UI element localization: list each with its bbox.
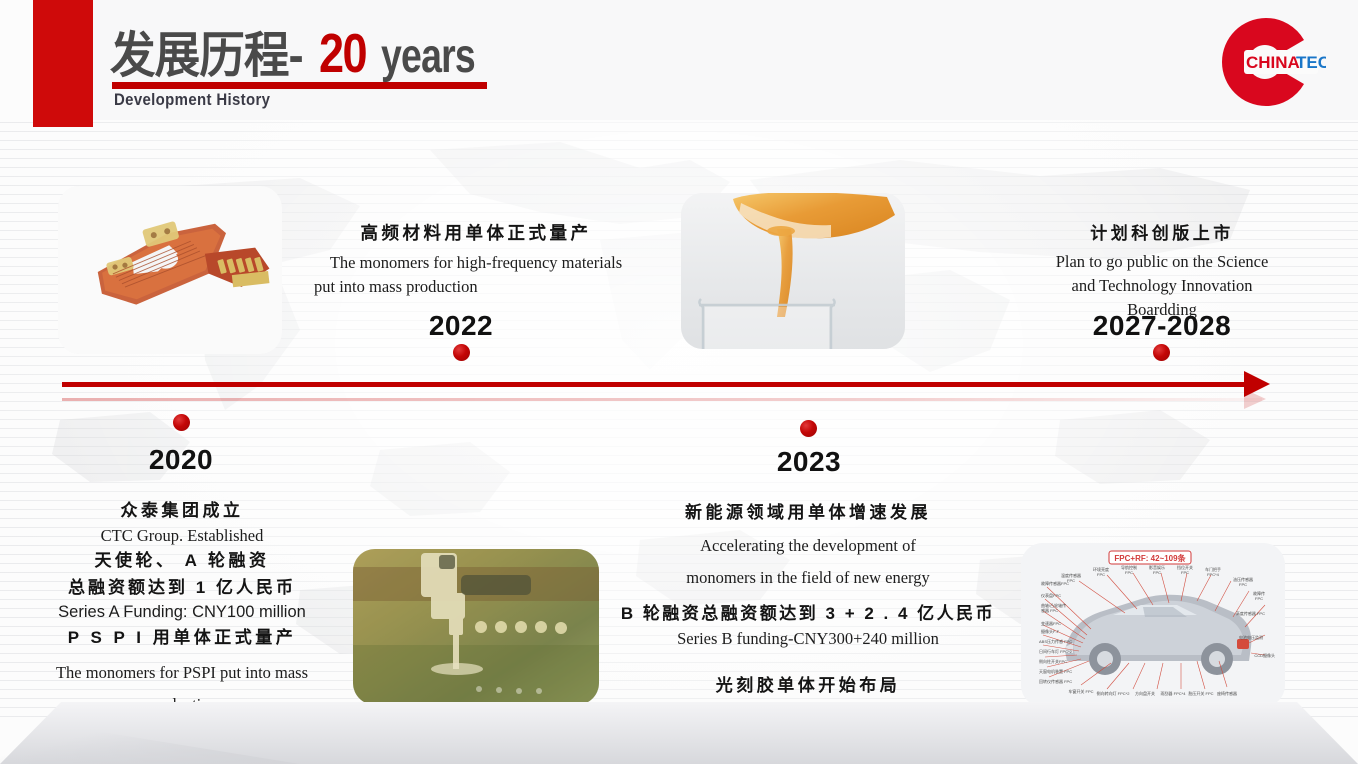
logo-icon: CHINA TECH [1206, 12, 1326, 112]
photo-car-fpc-diagram: FPC+RF: 42~109条 温度传感器FPC 环境亮度FPC 导航控制FPC… [1021, 543, 1285, 707]
svg-text:FPC: FPC [1153, 570, 1161, 575]
svg-text:天窗电机装置 FPC: 天窗电机装置 FPC [1039, 668, 1072, 674]
milestone-2020-cn-3: 总融资额达到 1 亿人民币 [26, 575, 338, 601]
milestone-2020-text: 众泰集团成立 CTC Group. Established 天使轮、 A 轮融资… [26, 498, 338, 720]
svg-text:日间行车灯 FPC*2: 日间行车灯 FPC*2 [1039, 648, 1073, 654]
milestone-2022-en-1: The monomers for high-frequency material… [306, 251, 646, 275]
milestone-2023-en-4: Series B funding-CNY300+240 million [608, 627, 1008, 651]
svg-text:摄像头F-F: 摄像头F-F [1041, 628, 1060, 634]
milestone-2027-text: 计划科创版上市 Plan to go public on the Science… [1028, 221, 1296, 322]
svg-text:座椅传感器: 座椅传感器 [1217, 690, 1237, 696]
page-title: 发展历程- 20 years [110, 16, 501, 87]
car-diagram-badge: FPC+RF: 42~109条 [1114, 553, 1186, 563]
svg-text:仪表盘FPC: 仪表盘FPC [1041, 592, 1061, 598]
milestone-2023-en-2: monomers in the field of new energy [608, 562, 1008, 593]
svg-text:高度传感器 FPC: 高度传感器 FPC [1236, 610, 1265, 616]
svg-text:变速器FPC: 变速器FPC [1041, 620, 1061, 626]
page-title-number: 20 [319, 21, 366, 85]
milestone-2027-year: 2027-2028 [1062, 310, 1262, 342]
milestone-2023-en-1: Accelerating the development of [608, 530, 1008, 561]
milestone-2027-en-1: Plan to go public on the Science [1028, 250, 1296, 274]
milestone-2023-cn-0: 新能源领域用单体增速发展 [608, 500, 1008, 526]
milestone-2023-cn-3: B 轮融资总融资额达到 3 + 2 . 4 亿人民币 [608, 601, 1008, 627]
timeline-axis-shadow [62, 398, 1262, 401]
slide-root: 发展历程- 20 years Development History CHINA… [0, 0, 1358, 764]
milestone-2023-dot [800, 420, 817, 437]
milestone-2020-en-4: Series A Funding: CNY100 million [26, 601, 338, 625]
svg-text:侧向转向灯 FPC*2: 侧向转向灯 FPC*2 [1097, 690, 1131, 696]
svg-text:FPC: FPC [1125, 570, 1133, 575]
svg-text:侧向柱开关FPC: 侧向柱开关FPC [1039, 658, 1067, 664]
milestone-2020-cn-5: P S P I 用单体正式量产 [26, 625, 338, 651]
svg-text:故障传感器FPC: 故障传感器FPC [1041, 580, 1069, 586]
milestone-2022-text: 高频材料用单体正式量产 The monomers for high-freque… [306, 220, 646, 299]
logo-text-tech: TECH [1296, 53, 1326, 72]
photo-precision-machine [353, 549, 599, 705]
milestone-2022-cn-0: 高频材料用单体正式量产 [306, 220, 646, 247]
svg-text:电池电压监测: 电池电压监测 [1239, 634, 1263, 640]
svg-text:CCD摄像头: CCD摄像头 [1254, 652, 1275, 658]
svg-text:车窗开关 FPC: 车窗开关 FPC [1068, 688, 1093, 694]
page-subtitle: Development History [114, 90, 270, 110]
svg-text:感器 FPC: 感器 FPC [1041, 607, 1058, 613]
photo-flex-pcb [58, 186, 282, 354]
milestone-2022-dot [453, 344, 470, 361]
photo-honey-pour [681, 193, 905, 349]
svg-text:FPC: FPC [1097, 572, 1105, 577]
svg-text:雨刮器 FPC*4: 雨刮器 FPC*4 [1161, 690, 1187, 696]
svg-text:FPC: FPC [1255, 596, 1263, 601]
svg-text:回转仪传感器 FPC: 回转仪传感器 FPC [1039, 678, 1072, 684]
milestone-2020-en-1: CTC Group. Established [26, 524, 338, 548]
milestone-2023-year: 2023 [744, 446, 874, 478]
milestone-2020-cn-2: 天使轮、 A 轮融资 [26, 548, 338, 574]
timeline-axis [62, 382, 1252, 387]
svg-text:胎压开关 FPC: 胎压开关 FPC [1188, 690, 1213, 696]
milestone-2022-year: 2022 [396, 310, 526, 342]
svg-text:FPC: FPC [1239, 582, 1247, 587]
milestone-2020-en-6: The monomers for PSPI put into mass [26, 657, 338, 688]
milestone-2020-cn-0: 众泰集团成立 [26, 498, 338, 524]
title-underline [112, 82, 487, 89]
milestone-2023-text: 新能源领域用单体增速发展 Accelerating the developmen… [608, 500, 1008, 724]
page-title-years: years [381, 29, 475, 84]
svg-text:FPC: FPC [1181, 570, 1189, 575]
page-title-cn: 发展历程- [110, 16, 303, 87]
milestone-2020-dot [173, 414, 190, 431]
svg-text:ABS压力传感 FPC: ABS压力传感 FPC [1039, 638, 1072, 644]
header-accent-block [33, 0, 93, 127]
timeline-arrow-head-shadow [1244, 389, 1266, 409]
milestone-2023-cn-5: 光刻胶单体开始布局 [608, 673, 1008, 699]
milestone-2020-year: 2020 [116, 444, 246, 476]
svg-text:FPC*4: FPC*4 [1207, 572, 1220, 577]
milestone-2027-dot [1153, 344, 1170, 361]
milestone-2027-en-2: and Technology Innovation [1028, 274, 1296, 298]
milestone-2027-cn-0: 计划科创版上市 [1028, 221, 1296, 247]
chinatech-logo: CHINA TECH [1206, 12, 1326, 112]
logo-text-china: CHINA [1246, 53, 1300, 72]
milestone-2022-en-2: put into mass production [306, 275, 646, 299]
svg-text:方向盘开关: 方向盘开关 [1135, 690, 1155, 696]
